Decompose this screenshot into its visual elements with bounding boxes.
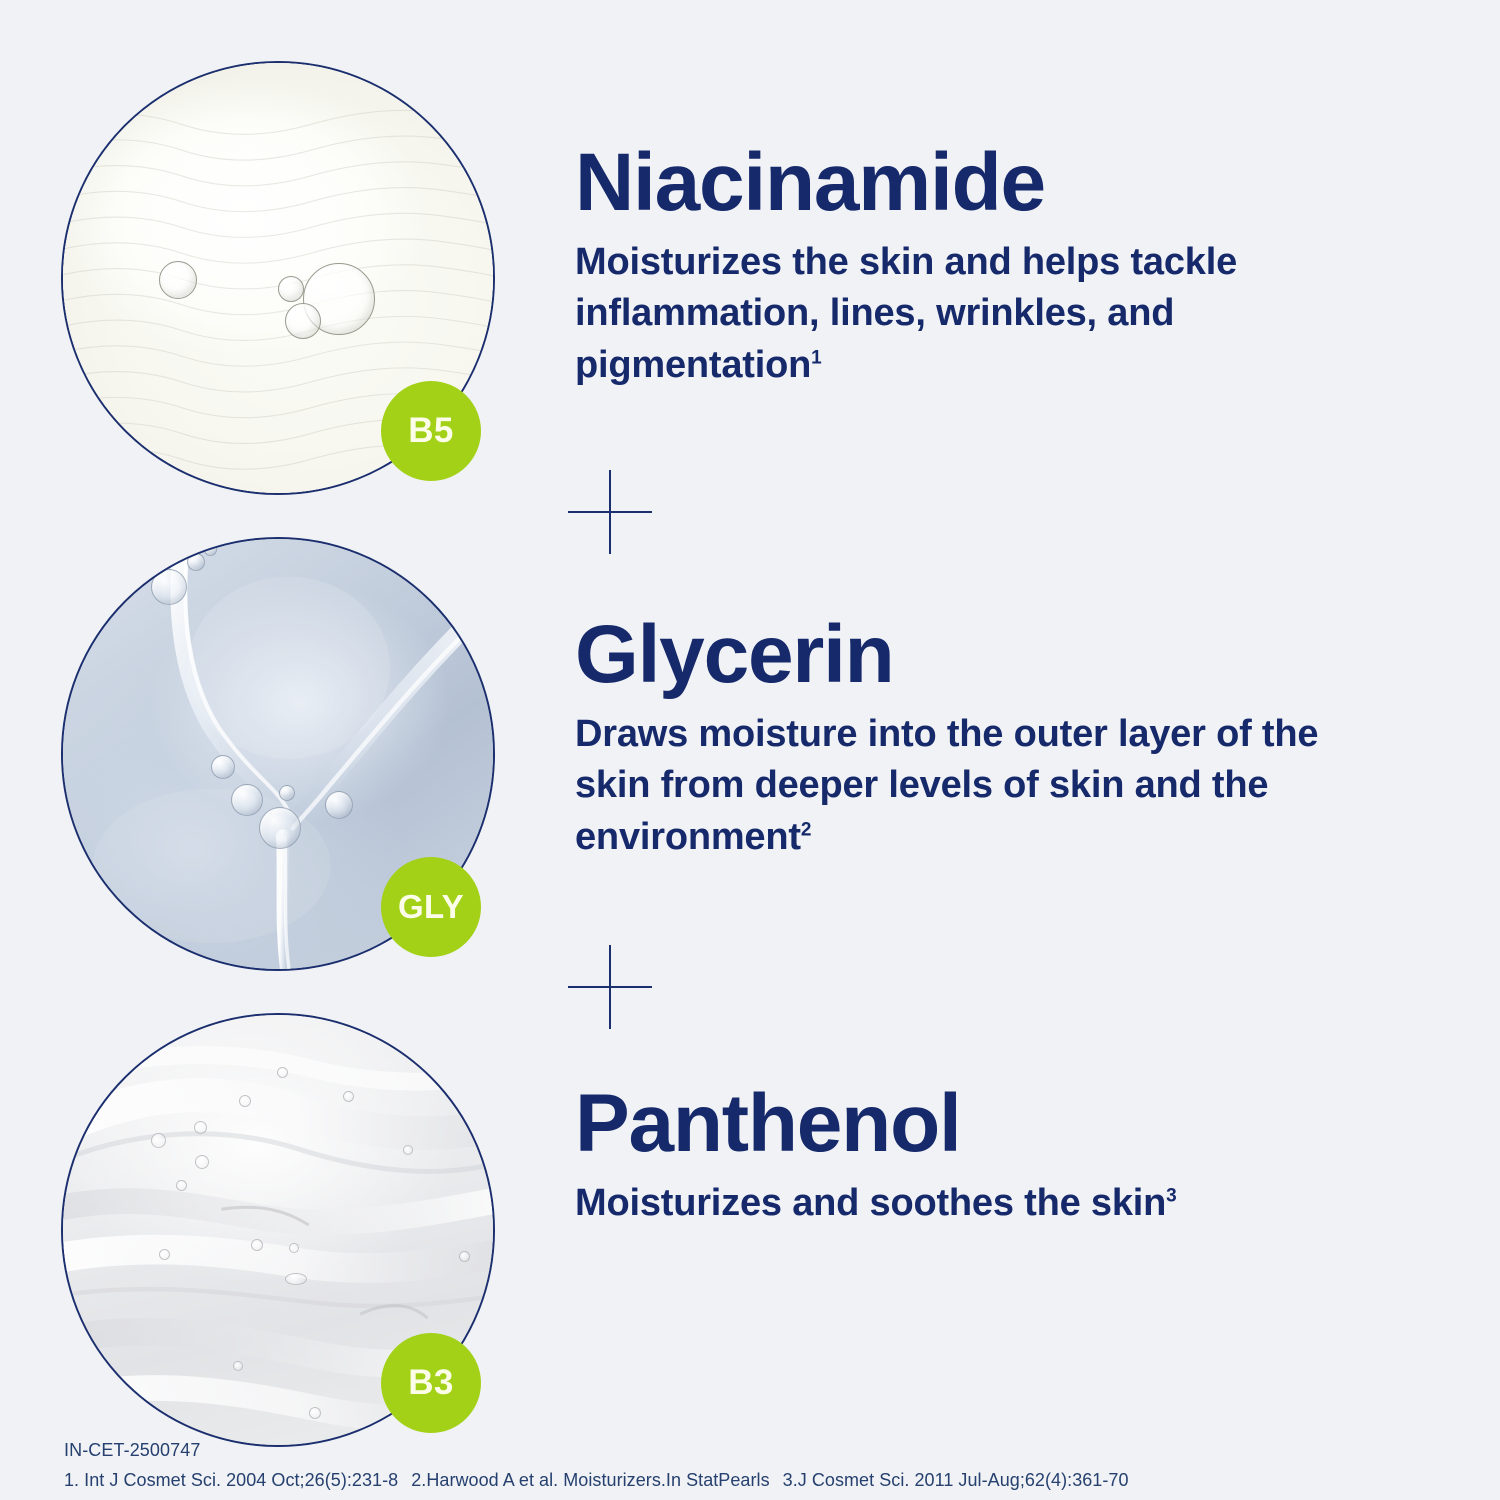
bubble (231, 784, 263, 816)
footer-reference-1: 1. Int J Cosmet Sci. 2004 Oct;26(5):231-… (64, 1470, 398, 1490)
bubble (233, 1361, 243, 1371)
description-text: Draws moisture into the outer layer of t… (575, 713, 1318, 858)
bubble (309, 1407, 321, 1419)
badge-gly: GLY (381, 857, 481, 957)
infographic-canvas: B5 (0, 0, 1500, 1500)
ingredient-title-glycerin: Glycerin (575, 616, 1365, 695)
bubble (159, 261, 197, 299)
footer-code: IN-CET-2500747 (64, 1437, 1129, 1463)
bubble (187, 553, 205, 571)
footer-references: 1. Int J Cosmet Sci. 2004 Oct;26(5):231-… (64, 1467, 1129, 1493)
footer-reference-3: 3.J Cosmet Sci. 2011 Jul-Aug;62(4):361-7… (783, 1470, 1129, 1490)
ingredient-description-panthenol: Moisturizes and soothes the skin3 (575, 1178, 1177, 1230)
bubble (289, 1243, 299, 1253)
bubble (176, 1180, 187, 1191)
ingredient-title-niacinamide: Niacinamide (575, 144, 1365, 223)
bubble (459, 1251, 470, 1262)
footnote-marker: 1 (811, 347, 821, 368)
bubble (285, 1273, 307, 1285)
plus-icon (568, 945, 652, 1029)
ingredient-text-panthenol: Panthenol Moisturizes and soothes the sk… (575, 1085, 1177, 1229)
badge-b5: B5 (381, 381, 481, 481)
ingredient-title-panthenol: Panthenol (575, 1085, 1177, 1164)
bubble (285, 303, 321, 339)
bubble (278, 276, 304, 302)
ingredient-description-niacinamide: Moisturizes the skin and helps tackle in… (575, 237, 1365, 392)
bubble (277, 1067, 288, 1078)
bubble (151, 569, 187, 605)
description-text: Moisturizes the skin and helps tackle in… (575, 241, 1237, 386)
plus-icon-vertical-bar (609, 945, 611, 1029)
bubble (151, 1133, 166, 1148)
ingredient-text-glycerin: Glycerin Draws moisture into the outer l… (575, 616, 1365, 864)
bubble (195, 1155, 209, 1169)
footnote-marker: 3 (1166, 1185, 1176, 1206)
ingredient-text-niacinamide: Niacinamide Moisturizes the skin and hel… (575, 144, 1365, 392)
plus-icon (568, 470, 652, 554)
bubble (325, 791, 353, 819)
bubble (211, 755, 235, 779)
description-text: Moisturizes and soothes the skin (575, 1182, 1166, 1224)
badge-b3: B3 (381, 1333, 481, 1433)
footer: IN-CET-2500747 1. Int J Cosmet Sci. 2004… (64, 1437, 1129, 1493)
footer-reference-2: 2.Harwood A et al. Moisturizers.In StatP… (411, 1470, 769, 1490)
ingredient-description-glycerin: Draws moisture into the outer layer of t… (575, 709, 1365, 864)
footnote-marker: 2 (801, 819, 811, 840)
plus-icon-vertical-bar (609, 470, 611, 554)
bubble (159, 1249, 170, 1260)
bubble (194, 1121, 207, 1134)
bubble (279, 785, 295, 801)
bubble (251, 1239, 263, 1251)
bubble (343, 1091, 354, 1102)
bubble (239, 1095, 251, 1107)
bubble (204, 543, 217, 556)
bubble (259, 807, 301, 849)
bubble (403, 1145, 413, 1155)
